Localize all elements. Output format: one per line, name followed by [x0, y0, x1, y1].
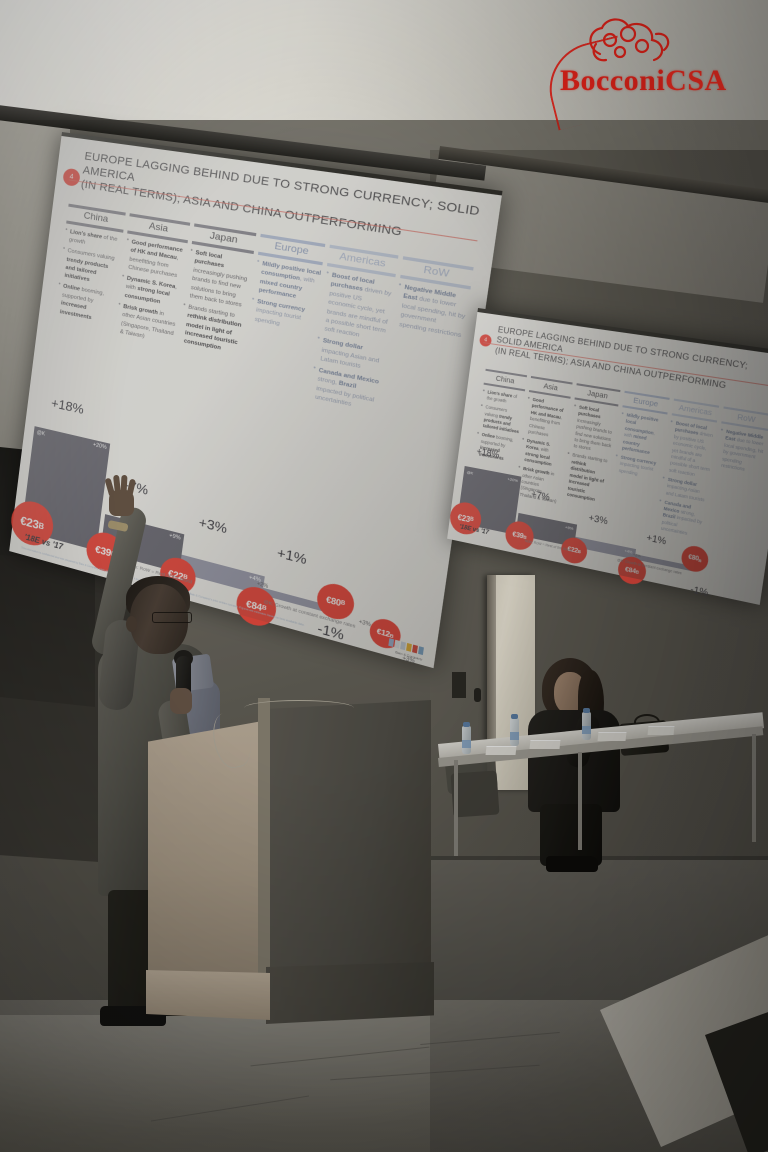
watermark: BocconiCSA: [548, 18, 768, 110]
lecture-hall-photo: 4 EUROPE LAGGING BEHIND DUE TO STRONG CU…: [0, 0, 768, 1152]
name-card: [648, 726, 675, 735]
column-bullets: Negative Middle East due to lower local …: [715, 427, 768, 476]
column-bullets: Mildly positive local consumption, with …: [249, 259, 322, 335]
lectern: [148, 700, 460, 1040]
presenter-ear: [126, 616, 137, 632]
presenter-raised-hand: [106, 476, 136, 516]
growth-label-japan: +3%: [198, 514, 228, 536]
growth-label-europe-sec: +1%: [646, 532, 667, 546]
panelist-boot: [546, 856, 598, 872]
seated-panelist: [520, 658, 630, 866]
lectern-cable-top: [244, 700, 354, 716]
lectern-base-side: [266, 962, 434, 1024]
column-header-japan: Japan: [575, 383, 621, 406]
growth-label-china: +18%: [50, 395, 84, 417]
bar-pct-asia-sec: +9%: [565, 522, 577, 531]
column-header-americas: Americas: [671, 398, 719, 422]
name-card: [598, 732, 627, 741]
column-bullets: Soft local purchases increasingly pushin…: [178, 248, 253, 357]
bullet-item: Negative Middle East due to lower local …: [393, 282, 470, 340]
glasses-icon: [152, 612, 192, 623]
value-bubble-asia-label: €39: [94, 544, 111, 559]
bottle-cap: [583, 708, 590, 713]
bullet-item: Boost of local purchases driven by posit…: [318, 270, 394, 345]
growth-label-europe: +1%: [276, 544, 308, 567]
panel-table-group: [438, 700, 768, 890]
watermark-text-csa: CSA: [665, 64, 727, 97]
bottle-cap: [511, 714, 518, 719]
column-header-europe: Europe: [622, 390, 669, 414]
growth-label-china-sec: +18%: [476, 446, 500, 460]
bullet-item: Brands starting to rethink distribution …: [178, 302, 246, 357]
bullet-item: Good performance of HK and Macau, benefi…: [523, 396, 570, 442]
bullet-item: Online booming, supported by increased i…: [55, 282, 116, 326]
name-card: [530, 740, 561, 749]
wall-notice: [452, 672, 466, 698]
value-bubble-americas-label: €80: [326, 594, 342, 607]
bullet-item: Negative Middle East due to lower local …: [715, 427, 768, 476]
watermark-text-bocconi: Bocconi: [560, 64, 665, 97]
column-header-china: China: [484, 369, 527, 392]
watermark-text: BocconiCSA: [560, 64, 727, 98]
value-bubble-row-label: €12: [376, 628, 390, 639]
bottle-label: [462, 740, 471, 748]
column-header-row: RoW: [722, 406, 768, 431]
name-card: [486, 746, 517, 755]
bar-pct-china-sec: +20%: [507, 474, 521, 483]
bar-pct-asia: +9%: [169, 531, 185, 543]
bottle-cap: [463, 722, 470, 727]
lectern-front-panel: [148, 720, 268, 990]
bullet-item: Mildly positive local consumption, with …: [616, 411, 666, 459]
lectern-side-panel: [266, 700, 431, 1000]
column-header-asia: Asia: [529, 376, 573, 399]
column-bullets: Negative Middle East due to lower local …: [393, 282, 470, 340]
bar-pct-china: +20%: [92, 440, 110, 452]
column-bullets: Lion's share of the growthConsumers valu…: [55, 227, 123, 326]
column-bullets: Boost of local purchases driven by posit…: [309, 270, 395, 414]
lectern-top-edge: [258, 698, 270, 994]
column-bullets: Good performance of HK and Macau, benefi…: [114, 238, 186, 347]
bar-atk-label-china: @K: [36, 430, 45, 438]
bottle-label: [510, 732, 519, 740]
bottle-label: [582, 726, 591, 734]
lectern-base-front: [146, 970, 270, 1020]
value-bubble-china-label: €23: [20, 514, 40, 532]
growth-label-asia-sec: +7%: [531, 489, 551, 503]
bullet-item: Soft local purchases increasingly pushin…: [184, 248, 253, 311]
growth-label-japan-sec: +3%: [588, 512, 608, 526]
bar-atk-label-china-sec: @K: [467, 469, 474, 475]
